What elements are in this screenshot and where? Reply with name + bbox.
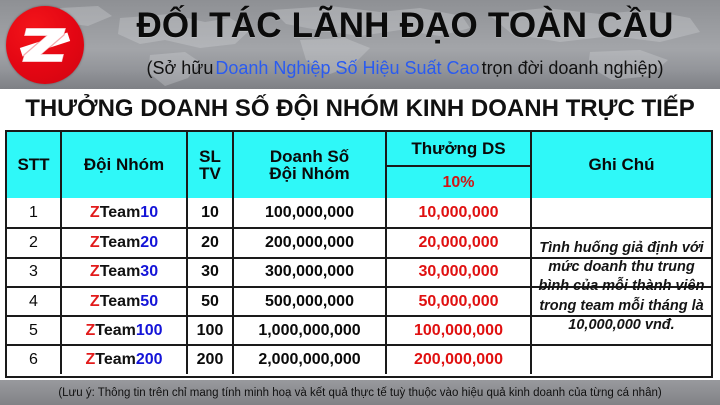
cell-members: 30 xyxy=(188,259,234,286)
cell-team-number: 200 xyxy=(136,351,163,369)
cell-bonus: 50,000,000 xyxy=(387,288,532,315)
bonus-table: STT Đội Nhóm SL TV Doanh Số Đội Nhóm Thư… xyxy=(5,130,713,378)
section-title: THƯỞNG DOANH SỐ ĐỘI NHÓM KINH DOANH TRỰC… xyxy=(0,89,720,128)
z-logo-icon xyxy=(6,6,84,84)
cell-team-name: Team xyxy=(100,204,141,222)
column-header-revenue-line2: Đội Nhóm xyxy=(269,165,349,182)
cell-team: ZTeam50 xyxy=(62,288,188,315)
cell-team-prefix: Z xyxy=(90,204,100,222)
column-header-note: Ghi Chú xyxy=(532,132,711,198)
cell-team-name: Team xyxy=(95,322,136,340)
cell-members: 50 xyxy=(188,288,234,315)
cell-team-number: 100 xyxy=(136,322,163,340)
cell-stt: 3 xyxy=(7,259,62,286)
cell-team-number: 50 xyxy=(140,293,158,311)
cell-team-number: 20 xyxy=(140,234,158,252)
cell-team-name: Team xyxy=(100,234,141,252)
header-banner: ĐỐI TÁC LÃNH ĐẠO TOÀN CẦU (Sở hữu Doanh … xyxy=(0,0,720,89)
cell-members: 100 xyxy=(188,317,234,344)
column-header-team: Đội Nhóm xyxy=(62,132,188,198)
slide-root: ĐỐI TÁC LÃNH ĐẠO TOÀN CẦU (Sở hữu Doanh … xyxy=(0,0,720,405)
cell-stt: 2 xyxy=(7,229,62,256)
cell-note: Tình huống giả định với mức doanh thu tr… xyxy=(532,198,711,376)
cell-team-prefix: Z xyxy=(90,293,100,311)
cell-team: ZTeam10 xyxy=(62,198,188,227)
cell-team-number: 10 xyxy=(140,204,158,222)
cell-team: ZTeam100 xyxy=(62,317,188,344)
column-header-bonus: Thưởng DS 10% xyxy=(387,132,532,198)
cell-revenue: 500,000,000 xyxy=(234,288,387,315)
banner-subtitle: (Sở hữu Doanh Nghiệp Số Hiệu Suất Cao tr… xyxy=(92,52,718,84)
cell-team-prefix: Z xyxy=(90,263,100,281)
column-header-revenue: Doanh Số Đội Nhóm xyxy=(234,132,387,198)
banner-title: ĐỐI TÁC LÃNH ĐẠO TOÀN CẦU xyxy=(92,1,718,51)
cell-revenue: 2,000,000,000 xyxy=(234,346,387,373)
subtitle-after: trọn đời doanh nghiệp) xyxy=(482,58,664,79)
cell-members: 200 xyxy=(188,346,234,373)
subtitle-highlight: Doanh Nghiệp Số Hiệu Suất Cao xyxy=(213,58,481,79)
cell-team: ZTeam200 xyxy=(62,346,188,373)
subtitle-before: (Sở hữu xyxy=(146,58,213,79)
cell-bonus: 200,000,000 xyxy=(387,346,532,373)
cell-bonus: 30,000,000 xyxy=(387,259,532,286)
cell-stt: 1 xyxy=(7,198,62,227)
column-header-members-line2: TV xyxy=(199,165,221,182)
cell-bonus: 100,000,000 xyxy=(387,317,532,344)
cell-team-prefix: Z xyxy=(90,234,100,252)
cell-revenue: 200,000,000 xyxy=(234,229,387,256)
cell-team-prefix: Z xyxy=(85,351,95,369)
cell-team-name: Team xyxy=(95,351,136,369)
cell-team-number: 30 xyxy=(140,263,158,281)
footer-disclaimer: (Lưu ý: Thông tin trên chỉ mang tính min… xyxy=(0,380,720,405)
cell-team: ZTeam30 xyxy=(62,259,188,286)
cell-bonus: 10,000,000 xyxy=(387,198,532,227)
column-header-stt: STT xyxy=(7,132,62,198)
cell-stt: 4 xyxy=(7,288,62,315)
cell-revenue: 100,000,000 xyxy=(234,198,387,227)
cell-members: 20 xyxy=(188,229,234,256)
cell-members: 10 xyxy=(188,198,234,227)
cell-revenue: 1,000,000,000 xyxy=(234,317,387,344)
company-logo xyxy=(6,6,84,84)
column-header-members: SL TV xyxy=(188,132,234,198)
column-header-bonus-label: Thưởng DS xyxy=(387,132,530,167)
cell-team-name: Team xyxy=(100,263,141,281)
cell-team-name: Team xyxy=(100,293,141,311)
cell-stt: 6 xyxy=(7,346,62,373)
cell-team: ZTeam20 xyxy=(62,229,188,256)
table-header-row: STT Đội Nhóm SL TV Doanh Số Đội Nhóm Thư… xyxy=(7,132,711,198)
cell-stt: 5 xyxy=(7,317,62,344)
column-header-revenue-line1: Doanh Số xyxy=(270,148,349,165)
column-header-members-line1: SL xyxy=(199,148,221,165)
cell-team-prefix: Z xyxy=(85,322,95,340)
cell-revenue: 300,000,000 xyxy=(234,259,387,286)
column-header-bonus-percent: 10% xyxy=(387,167,530,198)
cell-bonus: 20,000,000 xyxy=(387,229,532,256)
